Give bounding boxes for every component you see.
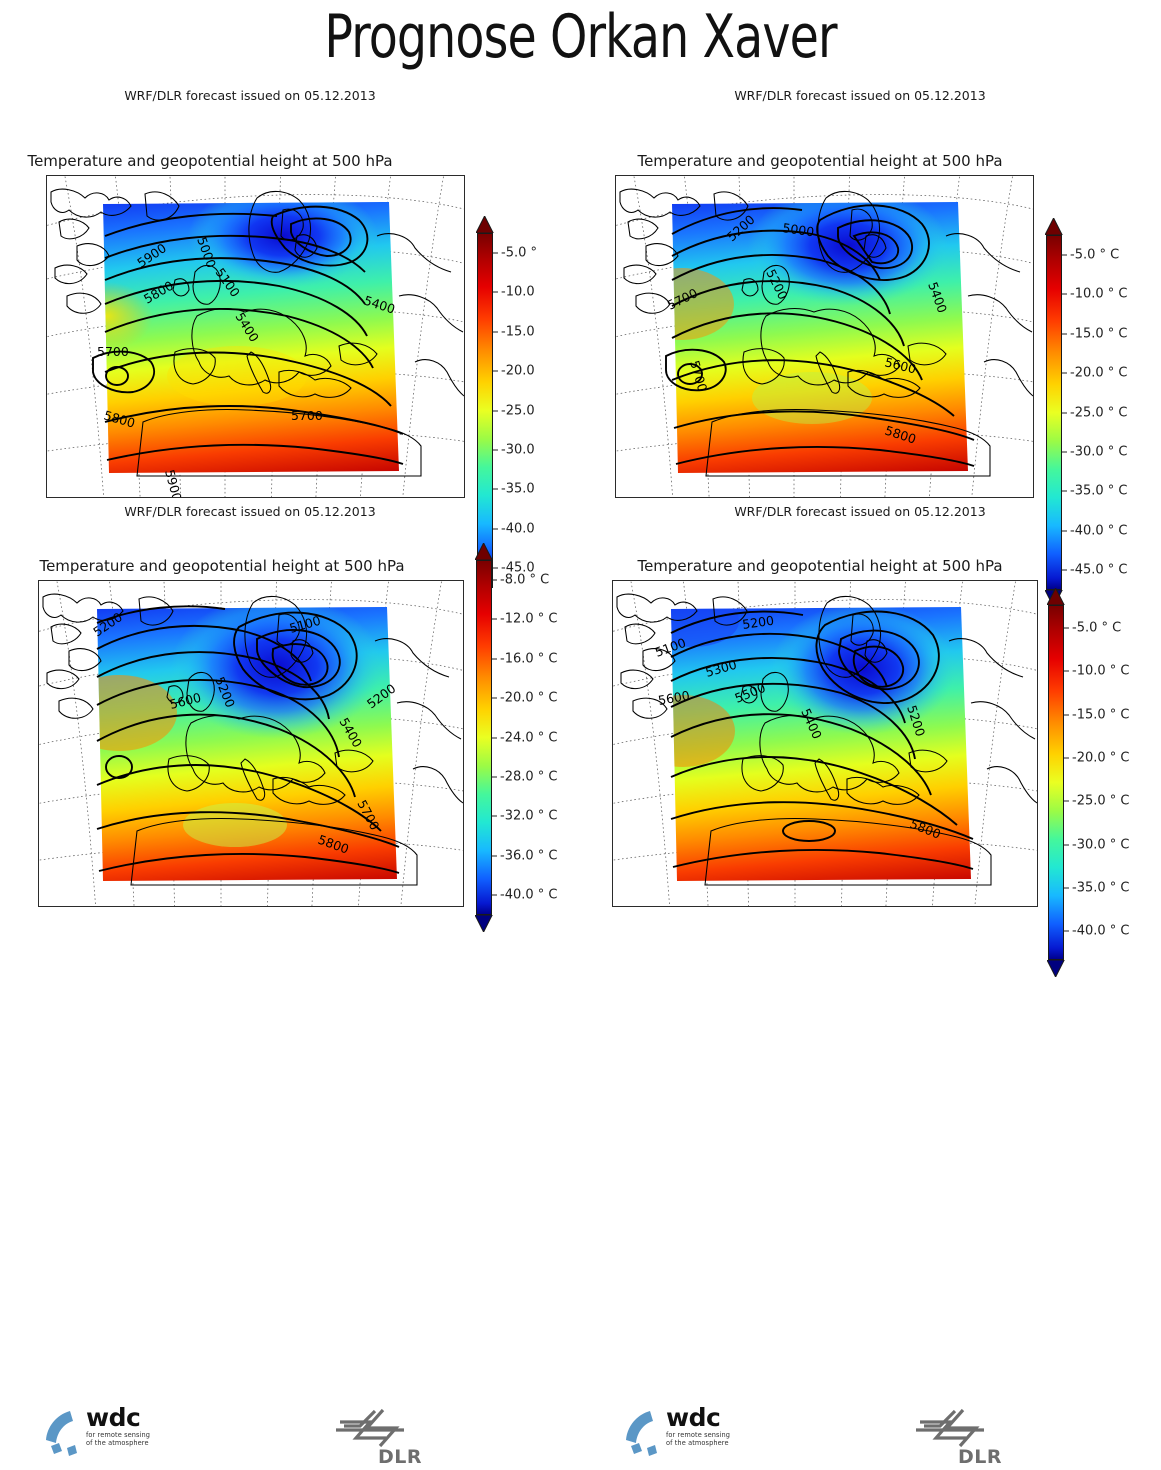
map-svg: 5900 5800 5000 5100 5400 5400 5700 5800 …: [47, 176, 464, 497]
wdc-wordmark: wdc: [86, 1405, 150, 1431]
colorbar-tick-label: -36.0 ° C: [500, 848, 557, 863]
forecast-panel-bottom-right: WRF/DLR forecast issued on 05.12.2013 Te…: [580, 500, 1161, 985]
contour-label: 5700: [97, 344, 129, 359]
colorbar-tick-label: -40.0 ° C: [1072, 924, 1129, 939]
issued-text: WRF/DLR forecast issued on 05.12.2013: [0, 88, 500, 103]
colorbar-extend-top: [476, 216, 493, 233]
wdc-subtitle-line1: for remote sensing: [86, 1431, 150, 1439]
map-svg: 5200 5100 5200 5600 5400 5200 5700 5800: [39, 581, 463, 906]
colorbar-tick-label: -35.0 ° C: [1070, 484, 1127, 499]
colorbar-extend-bottom: [475, 915, 492, 932]
colorbar-tick-label: -30.0: [501, 442, 535, 457]
colorbar-extend-top: [1045, 218, 1062, 235]
colorbar-tick-label: -28.0 ° C: [500, 769, 557, 784]
colorbar-extend-top: [1047, 588, 1064, 605]
dlr-logo: DLR: [330, 1408, 440, 1470]
map-plot-top-left[interactable]: 5900 5800 5000 5100 5400 5400 5700 5800 …: [46, 175, 465, 498]
colorbar-extend-bottom: [1047, 960, 1064, 977]
colorbar-tick-label: -20.0 ° C: [500, 691, 557, 706]
wdc-subtitle-line2: of the atmosphere: [666, 1439, 730, 1447]
colorbar-tick-label: -8.0 ° C: [500, 572, 549, 587]
colorbar-tick-label: -24.0 ° C: [500, 730, 557, 745]
panel-title-line1: Temperature and geopotential height at 5…: [39, 557, 404, 575]
colorbar-tick-label: -30.0 ° C: [1072, 837, 1129, 852]
colorbar-clip-bottom-left: -8.0 ° C -12.0 ° C -16.0 ° C -20.0 ° C -…: [466, 535, 561, 933]
map-plot-bottom-left[interactable]: 5200 5100 5200 5600 5400 5200 5700 5800: [38, 580, 464, 907]
wdc-subtitle-line1: for remote sensing: [666, 1431, 730, 1439]
colorbar-ticks-bottom-right: -5.0 ° C -10.0 ° C -15.0 ° C -20.0 ° C -…: [1064, 605, 1154, 960]
map-plot-top-right[interactable]: 5000 5200 5200 5400 5700 5700 5800 5600: [615, 175, 1034, 498]
colorbar-tick-label: -25.0: [501, 403, 535, 418]
forecast-panel-top-left: WRF/DLR forecast issued on 05.12.2013 Te…: [0, 88, 500, 508]
colorbar-tick-label: -10.0 ° C: [1070, 287, 1127, 302]
contour-label: 5700: [291, 408, 323, 423]
issued-text: WRF/DLR forecast issued on 05.12.2013: [570, 88, 1150, 103]
colorbar-tick-label: -25.0 ° C: [1070, 405, 1127, 420]
colorbar-gradient: [1048, 605, 1064, 960]
dlr-wordmark: DLR: [958, 1446, 1002, 1468]
wdc-logo: wdc for remote sensing of the atmosphere: [620, 1405, 810, 1463]
colorbar-tick-label: -30.0 ° C: [1070, 444, 1127, 459]
map-plot-bottom-right[interactable]: 5100 5200 5300 5600 5500 5400 5200 5800: [612, 580, 1038, 907]
dlr-wordmark: DLR: [378, 1446, 422, 1468]
colorbar-tick-label: -5.0 ° C: [1072, 621, 1121, 636]
page-title: Prognose Orkan Xaver: [70, 4, 1092, 70]
colorbar-tick-label: -12.0 ° C: [500, 612, 557, 627]
colorbar-tick-label: -20.0 ° C: [1072, 751, 1129, 766]
colorbar-tick-label: -5.0 ° C: [1070, 247, 1119, 262]
dlr-logo: DLR: [910, 1408, 1020, 1470]
wdc-mark-icon: [40, 1407, 82, 1457]
wdc-wordmark: wdc: [666, 1405, 730, 1431]
colorbar-tick-label: -40.0 ° C: [500, 888, 557, 903]
colorbar-ticks-bottom-left: -8.0 ° C -12.0 ° C -16.0 ° C -20.0 ° C -…: [492, 560, 561, 915]
forecast-panel-bottom-left: WRF/DLR forecast issued on 05.12.2013 Te…: [0, 500, 560, 985]
forecast-panel-top-right: WRF/DLR forecast issued on 05.12.2013 Te…: [580, 88, 1160, 508]
colorbar-tick-label: -32.0 ° C: [500, 809, 557, 824]
colorbar-tick-label: -16.0 ° C: [500, 651, 557, 666]
colorbar-gradient: [476, 560, 492, 915]
wdc-subtitle-line2: of the atmosphere: [86, 1439, 150, 1447]
colorbar-bottom-left[interactable]: -8.0 ° C -12.0 ° C -16.0 ° C -20.0 ° C -…: [476, 560, 492, 915]
colorbar-tick-label: -10.0: [501, 285, 535, 300]
colorbar-tick-label: -15.0: [501, 324, 535, 339]
colorbar-tick-label: -20.0 ° C: [1070, 366, 1127, 381]
colorbar-tick-label: -10.0 ° C: [1072, 664, 1129, 679]
colorbar-tick-label: -5.0 °: [501, 245, 537, 260]
wdc-logo: wdc for remote sensing of the atmosphere: [40, 1405, 230, 1463]
panel-title-line1: Temperature and geopotential height at 5…: [27, 152, 392, 170]
colorbar-tick-label: -15.0 ° C: [1072, 707, 1129, 722]
map-svg: 5000 5200 5200 5400 5700 5700 5800 5600: [616, 176, 1033, 497]
map-svg: 5100 5200 5300 5600 5500 5400 5200 5800: [613, 581, 1037, 906]
colorbar-tick-label: -35.0: [501, 482, 535, 497]
panel-title-line1: Temperature and geopotential height at 5…: [637, 557, 1002, 575]
colorbar-bottom-right[interactable]: -5.0 ° C -10.0 ° C -15.0 ° C -20.0 ° C -…: [1048, 605, 1064, 960]
issued-text: WRF/DLR forecast issued on 05.12.2013: [0, 504, 500, 519]
wdc-mark-icon: [620, 1407, 662, 1457]
colorbar-tick-label: -15.0 ° C: [1070, 326, 1127, 341]
wdc-text: wdc for remote sensing of the atmosphere: [86, 1405, 150, 1447]
panel-title-line1: Temperature and geopotential height at 5…: [637, 152, 1002, 170]
colorbar-tick-label: -25.0 ° C: [1072, 794, 1129, 809]
issued-text: WRF/DLR forecast issued on 05.12.2013: [570, 504, 1150, 519]
wdc-text: wdc for remote sensing of the atmosphere: [666, 1405, 730, 1447]
colorbar-extend-top: [475, 543, 492, 560]
colorbar-tick-label: -35.0 ° C: [1072, 880, 1129, 895]
colorbar-tick-label: -20.0: [501, 364, 535, 379]
